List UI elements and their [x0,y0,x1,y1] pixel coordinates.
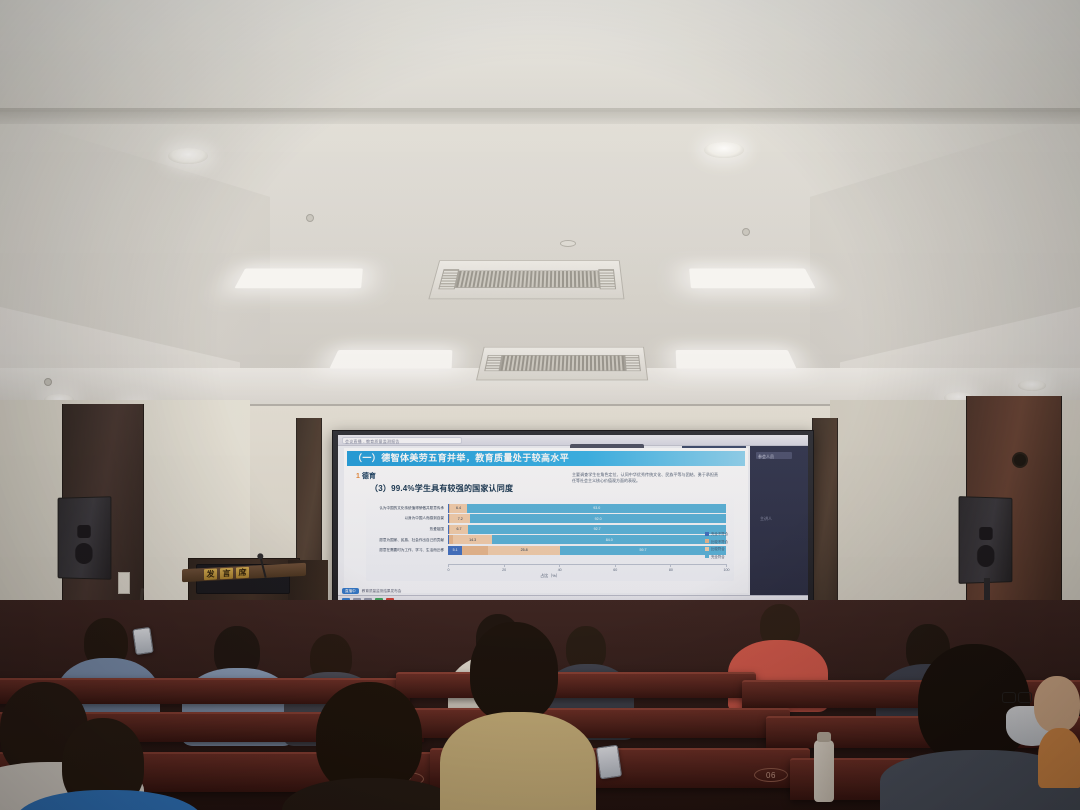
screen-status-row: 直播中 教育质量监测结果发布会 [342,588,401,594]
chart-bar-segment: 59.7 [560,546,726,555]
speaker-tweeter-icon [979,526,992,540]
chart-legend-label: 比较不符合 [711,539,728,544]
chart-bar-segment: 92.0 [470,514,726,523]
chart-bar-track: 6.493.0 [448,504,726,513]
chart-x-tick: 60 [615,564,616,567]
led-screen[interactable]: 会议直播 - 教育质量监测报告 参会人员 主讲人 （一）德智体美劳五育并举，教育… [338,435,808,607]
chart-bar-segment: 93.0 [467,504,726,513]
audience-head [1034,676,1080,732]
lectern-plaque-char: 言 [220,568,233,580]
chart-bar-track: 14.384.0 [448,535,726,544]
chart-bar-track: 7.292.0 [448,514,726,523]
slide-page: （一）德智体美劳五育并举，教育质量处于较高水平 1 德育 （3）99.4%学生具… [344,448,748,593]
ac-grille-icon [455,270,599,288]
lectern-plaque: 发言席 [204,567,249,580]
chart-x-tick-label: 80 [669,568,673,572]
chart-x-tick-label: 20 [502,568,506,572]
chart-legend-item: 完全不符合 [705,531,728,536]
downlight [168,148,208,164]
ceiling-led-panel [234,269,362,289]
slide-item-number: （3） [370,484,391,493]
ac-grille-icon [499,355,626,370]
chart-x-tick: 0 [448,564,449,567]
ceiling-led-panel [689,269,815,289]
conference-room-photo: 会议直播 - 教育质量监测报告 参会人员 主讲人 （一）德智体美劳五育并举，教育… [0,0,1080,810]
audience-head-foreground [470,622,558,722]
audience-area: 02 06 [0,600,1080,810]
smoke-detector-icon [560,240,576,247]
glasses-icon [1002,692,1032,701]
ac-cassette-unit [428,260,624,299]
chart-bar-label: 愿意在需要时为工作、学习、生活而迁移 [374,548,448,552]
chart-x-tick-label: 0 [448,568,450,572]
ceiling-rim-top [0,0,1080,112]
chart-bar-label: 热爱祖国 [374,527,448,531]
chart-legend-item: 完全符合 [705,554,728,559]
ceiling-led-panel [329,350,452,368]
chart-card: 认为中国的文化传统值得骄傲并愿意传承6.493.0以身为中国人而感到自豪7.29… [366,498,734,581]
chart-x-tick-label: 40 [558,568,562,572]
lectern-plaque-char: 发 [204,568,217,580]
chart-bar-row: 热爱祖国6.792.7 [374,524,726,534]
chart-legend-swatch [705,539,709,543]
sprinkler-icon [44,378,52,386]
chart-x-tick-label: 100 [724,568,730,572]
slide-sub-bullet: 1 [356,473,360,480]
chart-legend-swatch [705,547,709,551]
chart-x-axis-label: 占比（%） [366,573,734,579]
stacked-bar-chart: 认为中国的文化传统值得骄傲并愿意传承6.493.0以身为中国人而感到自豪7.29… [366,501,734,581]
audience-head-foreground [918,644,1030,764]
speaker-woofer-icon [75,543,93,564]
chart-x-tick-label: 60 [613,568,617,572]
slide-title: （一）德智体美劳五育并举，教育质量处于较高水平 [347,451,745,466]
chart-x-tick: 40 [559,564,560,567]
chart-bar-track: 5.125.859.7 [448,546,726,555]
chart-bar-segment: 92.7 [468,525,726,534]
chart-x-tick: 20 [504,564,505,567]
downlight [704,142,744,158]
chart-legend-item: 比较不符合 [705,539,728,544]
slide-item-heading-text: 99.4%学生具有较强的国家认同度 [391,484,513,493]
address-bar-text: 会议直播 - 教育质量监测报告 [345,438,400,445]
ceiling-led-panel [676,350,797,368]
ac-vane-icon [598,269,617,288]
ceiling-rim-shadow [0,108,1080,124]
ac-cassette-unit [476,347,648,380]
audience-torso [1038,728,1080,788]
chart-bar-segment: 14.3 [453,535,493,544]
sprinkler-icon [306,214,314,222]
audience-torso-foreground [440,712,596,810]
phone-on-desk [596,745,622,780]
security-camera-icon [1012,452,1028,468]
seat-number: 06 [754,768,788,782]
speaker-woofer-icon [977,545,995,567]
chart-bar-row: 认为中国的文化传统值得骄傲并愿意传承6.493.0 [374,503,726,513]
chart-bar-segment: 84.0 [492,535,726,544]
slide-sub-heading: 1 德育 [356,471,376,481]
chart-bar-track: 6.792.7 [448,525,726,534]
participant-label: 参会人员 [758,453,774,460]
chart-bar-segment: 6.7 [450,525,469,534]
slide-sub-heading-text: 德育 [362,473,376,480]
slide-item-heading: （3）99.4%学生具有较强的国家认同度 [370,483,513,494]
speaker-tweeter-icon [77,525,90,538]
sprinkler-icon [742,228,750,236]
chart-bar-row: 愿意在需要时为工作、学习、生活而迁移5.125.859.7 [374,545,726,555]
chart-bar-segment: 5.1 [448,546,462,555]
wood-pilaster [812,418,838,628]
bottle-cap [817,732,831,742]
chart-x-tick: 80 [670,564,671,567]
chart-legend-label: 完全符合 [711,554,725,559]
chart-legend-item: 比较符合 [705,546,728,551]
chart-bar-row: 以身为中国人而感到自豪7.292.0 [374,514,726,524]
chart-bar-segment: 25.8 [488,546,560,555]
wall-speaker [959,496,1013,584]
chart-bar-label: 以身为中国人而感到自豪 [374,516,448,520]
lectern-plaque-char: 席 [236,567,249,579]
slide-note-text: 主要调查学生在角色定位、认同中华优秀传统文化、民族平等与团结、勇于承担责任等社会… [572,472,718,483]
chart-legend-label: 完全不符合 [711,531,728,536]
chart-bar-row: 愿意为国家、民族、社会作出自己的贡献14.384.0 [374,535,726,545]
status-text: 教育质量监测结果发布会 [362,589,402,594]
chart-bar-label: 愿意为国家、民族、社会作出自己的贡献 [374,538,448,542]
presenter-note: 主讲人 [760,516,772,522]
chart-x-axis: 020406080100 [448,564,726,565]
phone-in-hand [132,627,153,655]
chart-x-tick: 100 [726,564,727,567]
ac-vane-icon [625,355,641,372]
chart-bar-label: 认为中国的文化传统值得骄傲并愿意传承 [374,506,448,510]
participant-rail: 参会人员 主讲人 [750,446,808,595]
chart-legend-swatch [705,554,709,558]
downlight [1018,380,1046,391]
water-bottle [814,740,834,802]
chart-legend-swatch [705,532,709,536]
chart-bar-segment [462,546,488,555]
wall-speaker [58,496,112,580]
chart-bar-segment: 7.2 [450,514,470,523]
bench-row [396,672,756,698]
wall-outlet-panel [118,572,130,594]
status-badge: 直播中 [342,588,359,594]
chart-legend-label: 比较符合 [711,546,725,551]
chart-bar-segment: 6.4 [450,504,468,513]
chart-legend: 完全不符合比较不符合比较符合完全符合 [705,531,728,559]
